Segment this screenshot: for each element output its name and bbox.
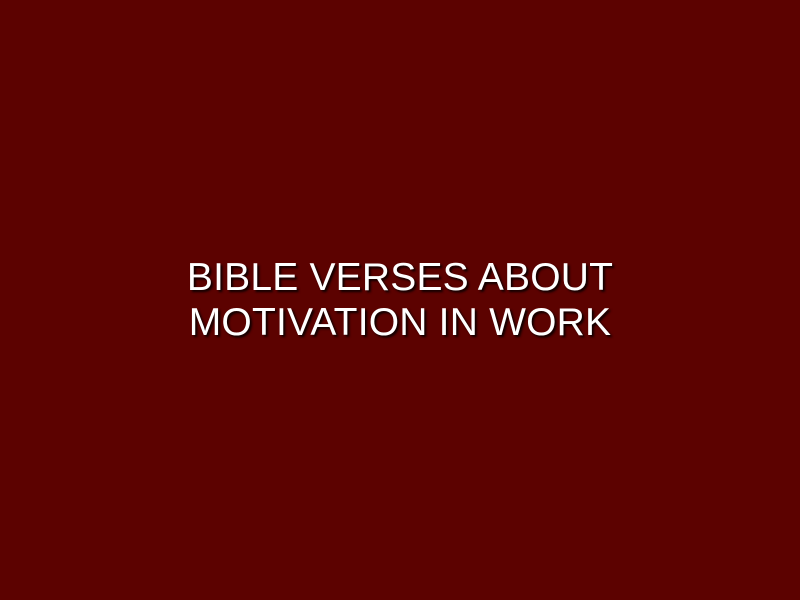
page-title: BIBLE VERSES ABOUT MOTIVATION IN WORK (88, 255, 712, 345)
title-slide: BIBLE VERSES ABOUT MOTIVATION IN WORK (0, 0, 800, 600)
title-block: BIBLE VERSES ABOUT MOTIVATION IN WORK (80, 255, 720, 345)
